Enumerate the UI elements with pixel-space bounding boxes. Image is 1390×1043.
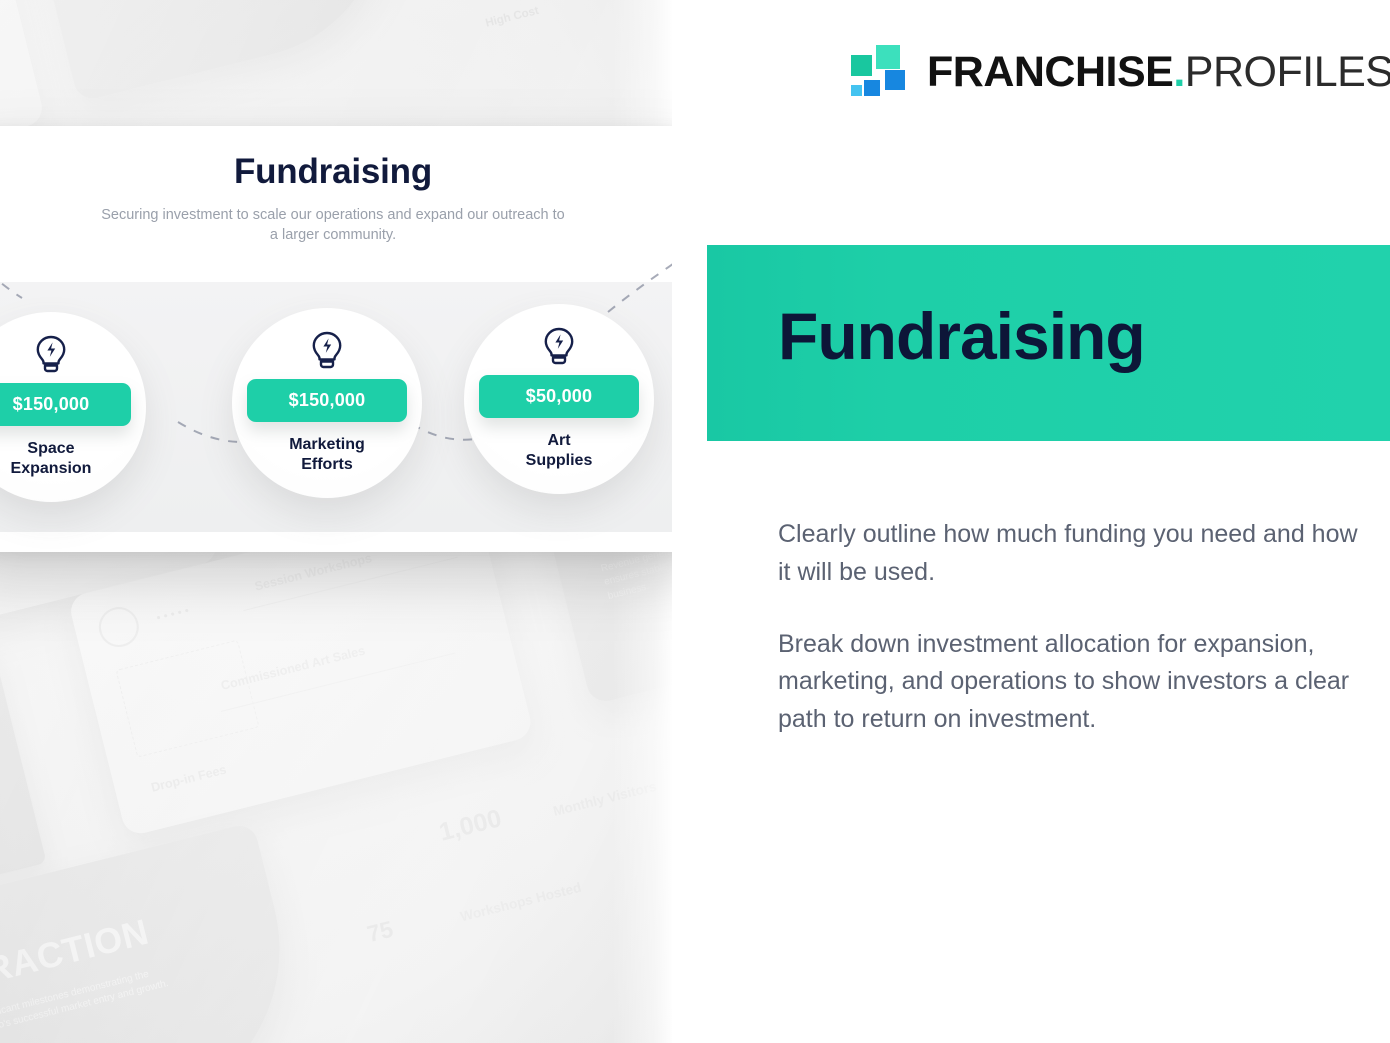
- logo-dot: .: [1173, 48, 1184, 96]
- deck-revenue-dots: • • • • •: [155, 605, 190, 625]
- node-art-supplies[interactable]: $50,000 Art Supplies: [464, 304, 654, 494]
- deck-slide-problem: THE PROBLEM Many individuals and communi…: [24, 0, 415, 102]
- deck-revenue-item-2: Session Workshops: [253, 550, 373, 593]
- fundraising-preview-card[interactable]: Fundraising Securing investment to scale…: [0, 126, 706, 552]
- deck-coin-icon: [95, 603, 143, 651]
- node-amount-badge[interactable]: $50,000: [479, 375, 639, 418]
- deck-point-cost: High Cost: [455, 0, 570, 37]
- deck-metric-label-2: Workshops Hosted: [459, 879, 583, 924]
- deck-metric-label-1: Monthly Visitors: [551, 778, 658, 819]
- lightbulb-bolt-icon: [34, 334, 68, 374]
- node-marketing-efforts[interactable]: $150,000 Marketing Efforts: [232, 308, 422, 498]
- brand-logo[interactable]: FRANCHISE.PROFILES: [850, 44, 1390, 100]
- node-label-space-expansion: Space Expansion: [0, 439, 126, 480]
- body-paragraph-1: Clearly outline how much funding you nee…: [778, 516, 1358, 592]
- node-amount-badge[interactable]: $150,000: [0, 383, 131, 426]
- node-space-expansion[interactable]: $150,000 Space Expansion: [0, 312, 146, 502]
- deck-traction-metrics: 1,000 Monthly Visitors 75 Workshops Host…: [314, 748, 672, 1033]
- node-label-art-supplies: Art Supplies: [484, 431, 634, 472]
- node-label-line1: Art: [547, 432, 570, 449]
- logo-word-franchise: FRANCHISE: [927, 48, 1173, 96]
- body-paragraph-2: Break down investment allocation for exp…: [778, 626, 1358, 739]
- node-label-marketing-efforts: Marketing Efforts: [252, 435, 402, 476]
- lightbulb-bolt-icon: [310, 330, 344, 370]
- node-label-line2: Efforts: [301, 456, 353, 473]
- node-label-line1: Marketing: [289, 436, 365, 453]
- deck-slide-traction: TRACTION Significant milestones demonstr…: [0, 822, 315, 1043]
- content-pane: FRANCHISE.PROFILES Fundraising Clearly o…: [672, 0, 1390, 1043]
- franchise-profiles-squares-logo-icon: [850, 44, 910, 100]
- fundraising-nodes: $150,000 Space Expansion $150,000 Market…: [0, 126, 706, 552]
- deck-revenue-item-1: Drop-in Fees: [150, 762, 228, 795]
- node-amount-badge[interactable]: $150,000: [247, 379, 407, 422]
- deck-slide-problem-body: Many individuals and communities lack ac…: [64, 0, 292, 2]
- brand-logo-text: FRANCHISE.PROFILES: [927, 51, 1390, 94]
- node-label-line2: Expansion: [11, 460, 92, 477]
- node-label-line1: Space: [27, 440, 74, 457]
- page-title: Fundraising: [778, 303, 1145, 369]
- logo-word-profiles: PROFILES: [1185, 48, 1390, 96]
- node-label-line2: Supplies: [526, 452, 593, 469]
- lightbulb-bolt-icon: [542, 326, 576, 366]
- deck-problem-points: Lack of Accessibility Limited Resources …: [401, 0, 633, 43]
- body-copy: Clearly outline how much funding you nee…: [778, 516, 1358, 739]
- deck-metric-value-2: 75: [364, 916, 396, 949]
- deck-metric-value-1: 1,000: [436, 804, 504, 848]
- deck-bar-block-2: [0, 649, 47, 896]
